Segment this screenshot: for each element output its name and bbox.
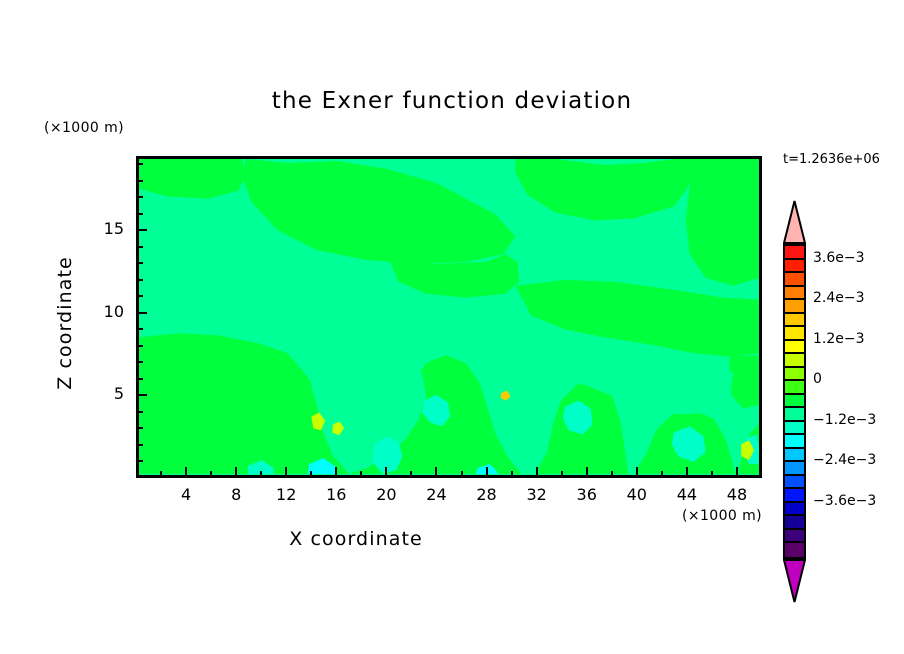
x-tick [310, 471, 312, 478]
y-tick-label: 15 [84, 219, 124, 238]
x-tick-label: 28 [467, 485, 507, 504]
colorbar-band [785, 516, 804, 530]
x-tick [736, 467, 738, 478]
x-tick [410, 471, 412, 478]
x-tick [160, 471, 162, 478]
x-tick [435, 467, 437, 478]
colorbar-top-arrow [783, 200, 806, 244]
x-tick [611, 471, 613, 478]
arrow-up-icon [783, 200, 806, 244]
colorbar-band [785, 341, 804, 355]
y-tick [136, 345, 143, 347]
colorbar-band [785, 476, 804, 490]
x-tick-label: 24 [416, 485, 456, 504]
colorbar-band [785, 503, 804, 517]
colorbar-label: −3.6e−3 [813, 493, 876, 509]
x-tick-label: 36 [567, 485, 607, 504]
x-tick-label: 8 [216, 485, 256, 504]
y-tick-label: 5 [84, 384, 124, 403]
timestamp-annotation: t=1.2636e+06 [783, 152, 880, 167]
x-tick-label: 44 [667, 485, 707, 504]
y-tick [136, 328, 143, 330]
y-tick [136, 246, 143, 248]
x-tick [235, 467, 237, 478]
y-tick [136, 411, 143, 413]
y-tick [136, 163, 143, 165]
y-tick [136, 427, 143, 429]
y-tick [136, 444, 143, 446]
x-tick [586, 467, 588, 478]
colorbar: 3.6e−32.4e−31.2e−30−1.2e−3−2.4e−3−3.6e−3 [777, 198, 817, 520]
x-axis-title: X coordinate [0, 528, 712, 550]
x-axis-units-label: (×1000 m) [682, 508, 762, 524]
x-tick [210, 471, 212, 478]
colorbar-label: 3.6e−3 [813, 250, 865, 266]
x-tick [360, 471, 362, 478]
contour-field [139, 159, 759, 478]
colorbar-label: −2.4e−3 [813, 452, 876, 468]
colorbar-band [785, 368, 804, 382]
y-tick [136, 196, 143, 198]
colorbar-band [785, 435, 804, 449]
x-tick [661, 471, 663, 478]
x-tick [385, 467, 387, 478]
contour-plot-area [136, 156, 762, 478]
colorbar-bottom-arrow [783, 559, 806, 603]
y-tick [136, 262, 143, 264]
colorbar-band [785, 300, 804, 314]
x-tick [711, 471, 713, 478]
colorbar-band [785, 489, 804, 503]
x-tick-label: 40 [617, 485, 657, 504]
y-tick [136, 361, 143, 363]
colorbar-band [785, 543, 804, 557]
colorbar-band [785, 530, 804, 544]
x-tick [636, 467, 638, 478]
x-tick-label: 12 [266, 485, 306, 504]
x-tick [260, 471, 262, 478]
x-tick [561, 471, 563, 478]
x-tick [536, 467, 538, 478]
x-tick [686, 467, 688, 478]
y-tick [136, 279, 143, 281]
y-tick [136, 394, 147, 396]
x-tick-label: 48 [717, 485, 757, 504]
colorbar-band [785, 287, 804, 301]
x-tick-label: 16 [316, 485, 356, 504]
x-tick-label: 4 [166, 485, 206, 504]
colorbar-band [785, 408, 804, 422]
y-axis-title: Z coordinate [54, 203, 76, 443]
y-tick [136, 213, 143, 215]
y-tick [136, 460, 143, 462]
x-tick [285, 467, 287, 478]
colorbar-band [785, 327, 804, 341]
colorbar-band [785, 422, 804, 436]
y-tick [136, 312, 147, 314]
page-title: the Exner function deviation [0, 88, 904, 114]
x-tick [461, 471, 463, 478]
y-tick [136, 180, 143, 182]
arrow-down-icon [783, 559, 806, 603]
exner-function-contour-plot: the Exner function deviation (×1000 m) (… [0, 0, 904, 654]
colorbar-band [785, 354, 804, 368]
colorbar-band [785, 314, 804, 328]
colorbar-label: 2.4e−3 [813, 290, 865, 306]
y-tick [136, 295, 143, 297]
colorbar-label: −1.2e−3 [813, 412, 876, 428]
y-axis-units-label: (×1000 m) [44, 120, 124, 136]
colorbar-band [785, 381, 804, 395]
x-tick [511, 471, 513, 478]
y-tick-label: 10 [84, 302, 124, 321]
colorbar-label: 1.2e−3 [813, 331, 865, 347]
colorbar-band [785, 462, 804, 476]
x-tick [185, 467, 187, 478]
colorbar-band [785, 273, 804, 287]
colorbar-band [785, 246, 804, 260]
y-tick [136, 229, 147, 231]
x-tick-label: 32 [517, 485, 557, 504]
x-tick-label: 20 [366, 485, 406, 504]
colorbar-bands [783, 244, 806, 559]
colorbar-band [785, 395, 804, 409]
x-tick [335, 467, 337, 478]
colorbar-band [785, 449, 804, 463]
colorbar-label: 0 [813, 371, 822, 387]
x-tick [486, 467, 488, 478]
y-tick [136, 378, 143, 380]
colorbar-band [785, 260, 804, 274]
